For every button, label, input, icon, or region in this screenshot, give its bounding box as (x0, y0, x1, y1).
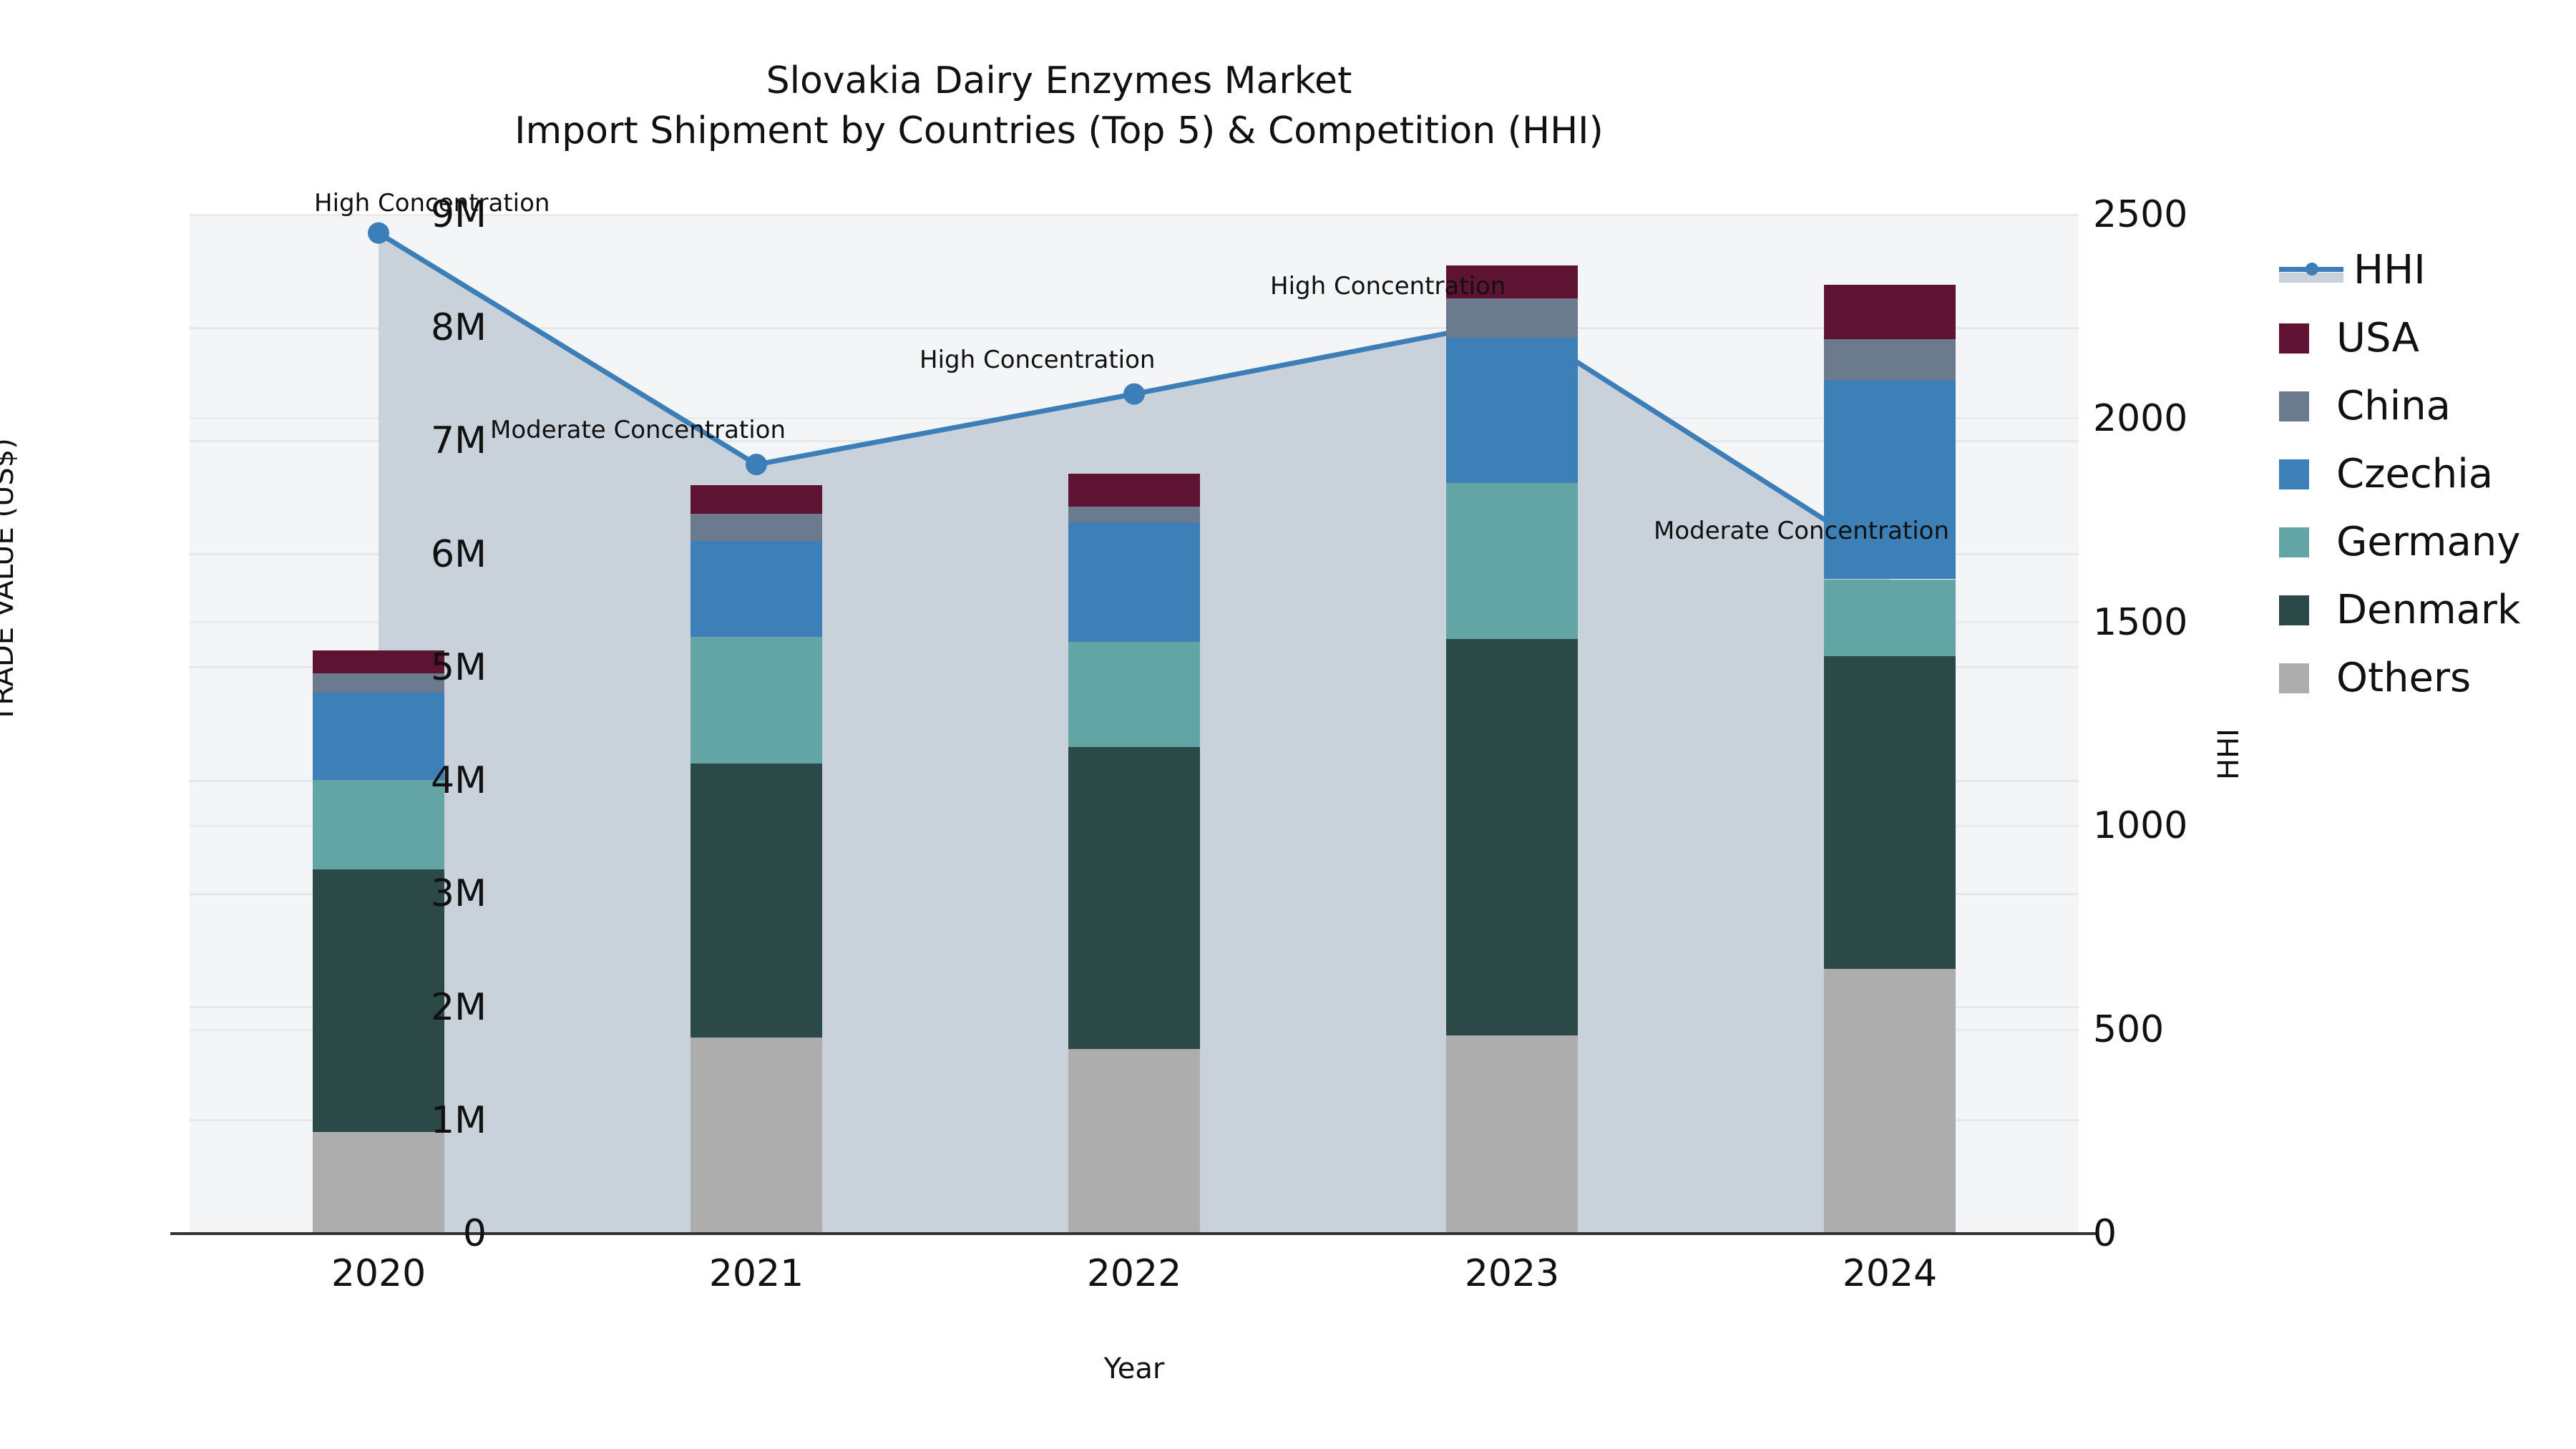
bar-group (1068, 474, 1200, 1234)
y-tick-label-left: 6M (315, 533, 487, 576)
legend-item-label: USA (2336, 315, 2419, 361)
hhi-marker[interactable] (746, 454, 767, 475)
y-tick-label-left: 1M (315, 1099, 487, 1142)
y-tick-label-right: 0 (2093, 1212, 2279, 1255)
bar-segment[interactable] (1446, 338, 1578, 483)
bar-segment[interactable] (1068, 507, 1200, 522)
bar-group (313, 650, 444, 1234)
bar-segment[interactable] (1068, 642, 1200, 747)
hhi-annotation: Moderate Concentration (490, 416, 786, 444)
x-tick-label[interactable]: 2022 (1027, 1252, 1241, 1295)
legend-item[interactable]: USA (2279, 304, 2520, 372)
y-tick-label-left: 0 (315, 1212, 487, 1255)
bar-segment[interactable] (1068, 747, 1200, 1049)
bar-segment[interactable] (1446, 1035, 1578, 1234)
bar-segment[interactable] (691, 485, 822, 514)
legend-item-label: Denmark (2336, 587, 2520, 633)
x-tick-label[interactable]: 2021 (649, 1252, 864, 1295)
legend-item[interactable]: China (2279, 372, 2520, 440)
y-tick-label-left: 2M (315, 986, 487, 1029)
hhi-annotation: High Concentration (919, 346, 1155, 374)
chart-subtitle: Import Shipment by Countries (Top 5) & C… (0, 106, 2118, 156)
bar-segment[interactable] (691, 637, 822, 763)
legend-item-label: China (2336, 383, 2451, 429)
legend-item-label: HHI (2353, 247, 2426, 293)
bar-group (691, 485, 822, 1234)
y-tick-label-left: 7M (315, 419, 487, 462)
y-tick-label-right: 1000 (2093, 804, 2279, 847)
y-tick-label-left: 4M (315, 759, 487, 802)
y-axis-tick-left (170, 1232, 190, 1235)
y-tick-label-right: 2500 (2093, 193, 2279, 236)
legend-swatch-icon (2279, 323, 2309, 353)
bar-segment[interactable] (691, 1038, 822, 1234)
bar-segment[interactable] (1824, 969, 1956, 1234)
legend-item[interactable]: HHI (2279, 236, 2520, 304)
bar-segment[interactable] (1068, 474, 1200, 507)
y-tick-label-left: 5M (315, 646, 487, 689)
y-tick-label-left: 9M (315, 193, 487, 236)
y-axis-right-label: HHI (2212, 728, 2245, 780)
chart-canvas: Slovakia Dairy Enzymes Market Import Shi… (0, 0, 2576, 1449)
bar-segment[interactable] (1446, 639, 1578, 1035)
y-tick-label-left: 3M (315, 872, 487, 915)
legend-swatch-icon (2279, 459, 2309, 489)
y-axis-left-label: TRADE VALUE (US$) (0, 438, 20, 723)
legend-item-label: Others (2336, 655, 2471, 701)
legend-item[interactable]: Others (2279, 644, 2520, 712)
x-tick-label[interactable]: 2024 (1782, 1252, 1997, 1295)
legend-line-icon (2279, 258, 2343, 283)
bar-group (1446, 265, 1578, 1234)
bar-segment[interactable] (1824, 380, 1956, 579)
legend-swatch-icon (2279, 595, 2309, 625)
y-tick-label-left: 8M (315, 306, 487, 349)
x-tick-label[interactable]: 2020 (271, 1252, 486, 1295)
legend: HHIUSAChinaCzechiaGermanyDenmarkOthers (2279, 236, 2520, 712)
x-axis-label: Year (190, 1352, 2079, 1385)
bar-segment[interactable] (1824, 656, 1956, 969)
bar-segment[interactable] (691, 763, 822, 1038)
plot-area: High ConcentrationModerate Concentration… (190, 215, 2079, 1234)
y-tick-label-right: 500 (2093, 1008, 2279, 1051)
bar-segment[interactable] (1446, 483, 1578, 639)
legend-swatch-icon (2279, 663, 2309, 693)
bar-segment[interactable] (691, 514, 822, 541)
bar-group (1824, 285, 1956, 1234)
bar-segment[interactable] (1068, 522, 1200, 641)
hhi-annotation: High Concentration (1270, 272, 1506, 301)
bar-segment[interactable] (1446, 298, 1578, 338)
bar-segment[interactable] (1068, 1049, 1200, 1234)
chart-title: Slovakia Dairy Enzymes Market (0, 56, 2118, 106)
bar-segment[interactable] (1824, 285, 1956, 339)
bar-segment[interactable] (1824, 580, 1956, 657)
x-tick-label[interactable]: 2023 (1405, 1252, 1619, 1295)
legend-item[interactable]: Germany (2279, 508, 2520, 576)
legend-swatch-icon (2279, 391, 2309, 421)
bar-segment[interactable] (691, 541, 822, 637)
bar-segment[interactable] (1824, 339, 1956, 380)
legend-item[interactable]: Denmark (2279, 576, 2520, 644)
legend-item-label: Czechia (2336, 451, 2493, 497)
y-tick-label-right: 1500 (2093, 601, 2279, 644)
y-tick-label-right: 2000 (2093, 397, 2279, 440)
legend-swatch-icon (2279, 527, 2309, 557)
legend-item-label: Germany (2336, 519, 2520, 565)
legend-item[interactable]: Czechia (2279, 440, 2520, 508)
hhi-annotation: Moderate Concentration (1654, 517, 1949, 545)
chart-title-block: Slovakia Dairy Enzymes Market Import Shi… (0, 56, 2118, 156)
hhi-marker[interactable] (1123, 384, 1145, 405)
